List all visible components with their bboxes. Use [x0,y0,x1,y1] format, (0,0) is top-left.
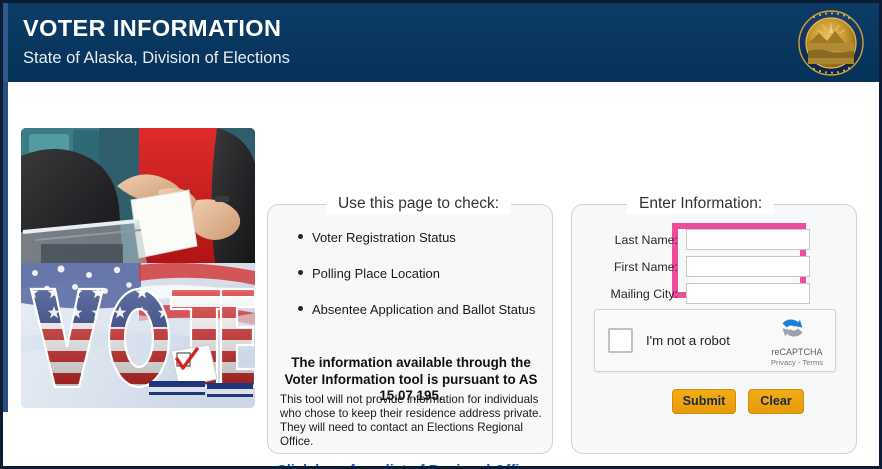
recaptcha-logo-icon [771,315,825,347]
recaptcha-checkbox[interactable] [608,328,633,353]
voter-information-page: VOTER INFORMATION State of Alaska, Divis… [0,0,882,469]
last-name-row: Last Name: [582,229,848,251]
check-item-list: Voter Registration Status Polling Place … [290,229,556,337]
pursuant-body-text: This tool will not provide information f… [280,393,548,449]
list-item: Voter Registration Status [312,229,556,246]
page-header: VOTER INFORMATION State of Alaska, Divis… [3,3,879,82]
alaska-state-seal-icon [797,9,865,77]
recaptcha-brand-label: reCAPTCHA [767,347,827,358]
recaptcha-label: I'm not a robot [646,332,730,349]
recaptcha-widget[interactable]: I'm not a robot reCAPTCHA Privacy - Term… [594,309,836,372]
list-item: Absentee Application and Ballot Status [312,301,556,318]
list-item: Polling Place Location [312,265,556,282]
submit-button[interactable]: Submit [672,389,736,414]
bullet-icon [298,270,303,275]
page-subtitle: State of Alaska, Division of Elections [23,48,290,68]
bullet-icon [298,306,303,311]
enter-panel-legend: Enter Information: [627,194,774,214]
recaptcha-privacy-terms-link[interactable]: Privacy - Terms [767,358,827,368]
regional-offices-link[interactable]: Click here for a list of Regional Office… [267,463,553,469]
mailing-city-input[interactable] [686,283,810,304]
mailing-city-label: Mailing City: [582,286,678,302]
check-panel-legend: Use this page to check: [326,194,511,214]
page-title: VOTER INFORMATION [23,15,281,41]
bullet-icon [298,234,303,239]
last-name-label: Last Name: [582,232,678,248]
list-item-label: Voter Registration Status [312,230,456,245]
page-body: Use this page to check: Voter Registrati… [3,82,879,466]
image-stack [21,128,255,408]
mailing-city-row: Mailing City: [582,283,848,305]
first-name-label: First Name: [582,259,678,275]
check-panel: Use this page to check: Voter Registrati… [267,204,553,454]
header-left-accent-bar [3,3,8,82]
list-item-label: Absentee Application and Ballot Status [312,302,535,317]
first-name-input[interactable] [686,256,810,277]
last-name-input[interactable] [686,229,810,250]
clear-button[interactable]: Clear [748,389,804,414]
ballot-casting-photo [21,128,255,263]
vote-flag-graphic [21,263,255,408]
first-name-row: First Name: [582,256,848,278]
enter-information-panel: Enter Information: Last Name: First Name… [571,204,857,454]
list-item-label: Polling Place Location [312,266,440,281]
body-left-accent-bar [3,82,8,412]
